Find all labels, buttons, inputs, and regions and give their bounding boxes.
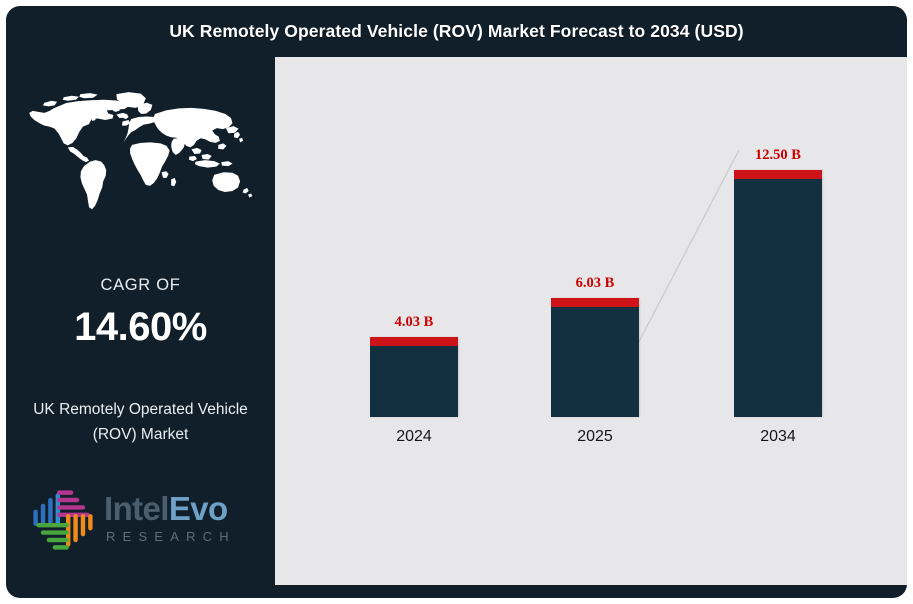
- brand-logo: IntelEvo RESEARCH: [20, 477, 270, 563]
- x-axis-label-2024: 2024: [354, 428, 474, 446]
- world-map-icon: [14, 87, 270, 222]
- bar-cap-2034: [734, 170, 822, 179]
- x-axis-label-2025: 2025: [535, 428, 655, 446]
- cagr-label: CAGR OF: [6, 276, 275, 295]
- bar-cap-2024: [370, 337, 458, 346]
- logo-wordmark: IntelEvo: [104, 489, 274, 529]
- x-axis-label-2034: 2034: [718, 428, 838, 446]
- intelevo-pinwheel-icon: [26, 483, 100, 557]
- bar-2024: [370, 337, 458, 417]
- bar-value-2025: 6.03 B: [535, 275, 655, 292]
- bar-2025: [551, 298, 639, 417]
- logo-subtitle: RESEARCH: [106, 529, 278, 544]
- title-bar: UK Remotely Operated Vehicle (ROV) Marke…: [6, 6, 907, 57]
- sidebar: CAGR OF 14.60% UK Remotely Operated Vehi…: [6, 57, 275, 585]
- market-name: UK Remotely Operated Vehicle (ROV) Marke…: [18, 397, 263, 447]
- logo-word-secondary: Evo: [169, 490, 228, 527]
- bar-value-2024: 4.03 B: [354, 314, 474, 331]
- chart-plot-area: 4.03 B20246.03 B202512.50 B2034: [275, 57, 907, 585]
- bar-2034: [734, 170, 822, 417]
- bar-value-2034: 12.50 B: [718, 147, 838, 164]
- bar-cap-2025: [551, 298, 639, 307]
- dark-frame: UK Remotely Operated Vehicle (ROV) Marke…: [6, 6, 907, 598]
- infographic-root: UK Remotely Operated Vehicle (ROV) Marke…: [0, 0, 913, 604]
- chart-panel: 4.03 B20246.03 B202512.50 B2034: [275, 57, 907, 585]
- cagr-value: 14.60%: [6, 305, 275, 350]
- logo-word-primary: Intel: [104, 490, 169, 527]
- page-title: UK Remotely Operated Vehicle (ROV) Marke…: [169, 21, 743, 42]
